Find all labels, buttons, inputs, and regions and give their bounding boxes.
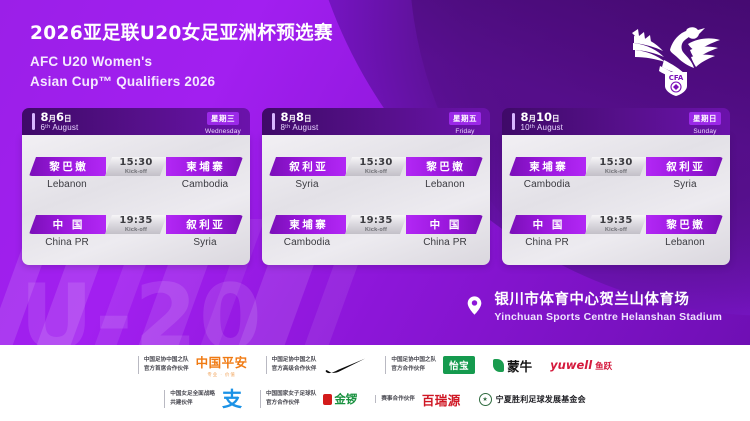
kickoff-label: Kick-off <box>605 227 627 233</box>
sponsor-row-secondary: 中国女足全面战略 共建伙伴 支 中国国家女子足球队 官方合作伙伴 金锣 <box>0 381 750 417</box>
home-team-cn: 叙利亚 <box>287 159 329 174</box>
page-title-cn: 2026亚足联U20女足亚洲杯预选赛 <box>30 22 333 45</box>
fixture-row[interactable]: 柬埔寨 19:35 Kick-off 中 国 Cambodia China PR <box>269 215 483 253</box>
kickoff-label: Kick-off <box>605 169 627 175</box>
ping-an-logo-sub: 专业 · 价值 <box>207 372 235 378</box>
sponsor-item[interactable]: 中国女足全面战略 共建伙伴 支 <box>155 389 251 409</box>
kickoff-time: 15:30 <box>119 158 152 168</box>
date-accent-bar <box>512 113 515 130</box>
sponsor-item[interactable]: 蒙牛 <box>484 355 541 375</box>
sponsor-caption: 赛事合作伙伴 <box>375 395 415 404</box>
card-date-header: 8月10日 10ᵗʰ August 星期日 Sunday <box>502 108 730 135</box>
date-group: 8月6日 6ᵗʰ August <box>32 111 78 133</box>
card-date-header: 8月6日 6ᵗʰ August 星期三 Wednesday <box>22 108 250 135</box>
away-team-cn: 叙利亚 <box>184 217 226 232</box>
sponsor-item[interactable]: 中国国家女子足球队 官方合作伙伴 金锣 <box>251 389 366 409</box>
home-team-cn: 柬埔寨 <box>527 159 569 174</box>
page-title-en-line2: Asian Cup™ Qualifiers 2026 <box>30 72 333 92</box>
weekday-group: 星期日 Sunday <box>689 108 721 135</box>
away-team-pill: 柬埔寨 <box>166 157 243 176</box>
sponsor-item[interactable]: 赛事合作伙伴 百瑞源 <box>366 389 469 409</box>
kickoff-chip: 19:35 Kick-off <box>585 215 647 234</box>
yuwell-logo-sub: 鱼跃 <box>595 360 612 372</box>
fixture-card[interactable]: 8月8日 8ᵗʰ August 星期五 Friday 叙利亚 <box>262 108 490 265</box>
date-label-en: 6ᵗʰ August <box>41 124 79 133</box>
venue-name-en: Yinchuan Sports Centre Helanshan Stadium <box>494 311 722 323</box>
fund-seal-icon: ★ <box>479 393 492 406</box>
date-accent-bar <box>32 113 35 130</box>
sponsor-caption-line1: 中国足协中国之队 <box>391 356 436 365</box>
away-team-en: Syria <box>647 179 723 190</box>
date-label-cn: 8月8日 <box>281 111 319 123</box>
fixture-row[interactable]: 叙利亚 15:30 Kick-off 黎巴嫩 Syria Lebanon <box>269 157 483 195</box>
kickoff-label: Kick-off <box>125 227 147 233</box>
alipay-logo: 支 <box>222 389 242 409</box>
nike-swoosh-logo <box>323 355 367 375</box>
sponsor-caption-line1: 中国国家女子足球队 <box>266 390 316 399</box>
home-team-en: Cambodia <box>509 179 585 190</box>
fixture-row[interactable]: 中 国 19:35 Kick-off 黎巴嫩 China PR Lebanon <box>509 215 723 253</box>
away-team-cn: 中 国 <box>427 217 462 232</box>
home-team-pill: 黎巴嫩 <box>29 157 106 176</box>
kickoff-label: Kick-off <box>365 169 387 175</box>
alipay-logo-text: 支 <box>222 389 242 409</box>
home-team-en: China PR <box>29 237 105 248</box>
weekday-badge-cn: 星期五 <box>449 112 481 125</box>
sponsor-caption: 中国足协中国之队 官方合作伙伴 <box>385 356 436 373</box>
kickoff-label: Kick-off <box>125 169 147 175</box>
cfa-shield-icon: CFA <box>665 72 687 96</box>
away-team-cn: 柬埔寨 <box>184 159 226 174</box>
ningxia-fund-logo-text: 宁夏胜利足球发展基金会 <box>496 394 586 405</box>
sponsor-item[interactable]: 中国足协中国之队 官方首席合作伙伴 中国平安 专业 · 价值 <box>129 355 257 375</box>
card-fixtures-body: 叙利亚 15:30 Kick-off 黎巴嫩 Syria Lebanon <box>262 135 490 265</box>
away-team-pill: 叙利亚 <box>166 215 243 234</box>
sponsor-footer: 中国足协中国之队 官方首席合作伙伴 中国平安 专业 · 价值 中国足协中国之队 … <box>0 345 750 421</box>
jinluo-logo: 金锣 <box>323 389 357 409</box>
ping-an-logo-text: 中国平安 <box>196 352 248 371</box>
weekday-label-en: Sunday <box>689 128 721 135</box>
date-group: 8月8日 8ᵗʰ August <box>272 111 318 133</box>
home-team-pill: 柬埔寨 <box>509 157 586 176</box>
fixture-card[interactable]: 8月10日 10ᵗʰ August 星期日 Sunday 柬埔寨 <box>502 108 730 265</box>
u20-watermark: U-20 <box>20 273 264 345</box>
bairuiyuan-logo-text: 百瑞源 <box>422 390 461 409</box>
away-team-pill: 黎巴嫩 <box>406 157 483 176</box>
away-team-en: China PR <box>407 237 483 248</box>
date-label-en: 10ᵗʰ August <box>521 124 564 133</box>
sponsor-caption-line2: 官方合作伙伴 <box>391 365 436 374</box>
fixtures-card-list: 8月6日 6ᵗʰ August 星期三 Wednesday 黎巴嫩 <box>22 108 730 265</box>
home-team-pill: 中 国 <box>509 215 586 234</box>
weekday-label-en: Friday <box>449 128 481 135</box>
away-team-en: Syria <box>167 237 243 248</box>
page-title-en: AFC U20 Women's Asian Cup™ Qualifiers 20… <box>30 52 333 91</box>
sponsor-caption-line1: 中国足协中国之队 <box>144 356 189 365</box>
cfa-eagle-crest-icon: CFA <box>630 16 722 96</box>
away-team-en: Lebanon <box>647 237 723 248</box>
fixture-row[interactable]: 黎巴嫩 15:30 Kick-off 柬埔寨 Lebanon Cambodia <box>29 157 243 195</box>
weekday-group: 星期三 Wednesday <box>205 108 241 135</box>
svg-text:CFA: CFA <box>669 74 684 82</box>
yibao-logo: 怡宝 <box>443 355 475 375</box>
kickoff-chip: 19:35 Kick-off <box>345 215 407 234</box>
yuwell-logo: yuwell 鱼跃 <box>550 355 612 375</box>
venue-block: 银川市体育中心贺兰山体育场 Yinchuan Sports Centre Hel… <box>464 288 722 323</box>
mengniu-logo-text: 蒙牛 <box>507 356 532 375</box>
date-label-en: 8ᵗʰ August <box>281 124 319 133</box>
jinluo-logo-text: 金锣 <box>334 391 357 407</box>
sponsor-item[interactable]: 中国足协中国之队 官方合作伙伴 怡宝 <box>376 355 484 375</box>
sponsor-item[interactable]: yuwell 鱼跃 <box>541 355 621 375</box>
date-label-cn: 8月10日 <box>521 111 564 123</box>
away-team-pill: 叙利亚 <box>646 157 723 176</box>
sponsor-item[interactable]: 中国足协中国之队 官方高级合作伙伴 <box>257 355 377 375</box>
poster-root: U-20 2026亚足联U20女足亚洲杯预选赛 AFC U20 Women's … <box>0 0 750 421</box>
weekday-label-en: Wednesday <box>205 128 241 135</box>
kickoff-chip: 15:30 Kick-off <box>345 157 407 176</box>
fixture-row[interactable]: 柬埔寨 15:30 Kick-off 叙利亚 Cambodia Syria <box>509 157 723 195</box>
fixture-row[interactable]: 中 国 19:35 Kick-off 叙利亚 China PR Syria <box>29 215 243 253</box>
sponsor-item[interactable]: ★ 宁夏胜利足球发展基金会 <box>470 389 595 409</box>
kickoff-time: 15:30 <box>359 158 392 168</box>
fixture-card[interactable]: 8月6日 6ᵗʰ August 星期三 Wednesday 黎巴嫩 <box>22 108 250 265</box>
kickoff-chip: 15:30 Kick-off <box>105 157 167 176</box>
mengniu-logo: 蒙牛 <box>493 355 532 375</box>
sponsor-caption-line1: 赛事合作伙伴 <box>381 395 415 404</box>
sponsor-caption-line2: 共建伙伴 <box>170 399 215 408</box>
away-team-pill: 黎巴嫩 <box>646 215 723 234</box>
yibao-logo-text: 怡宝 <box>443 356 475 374</box>
sponsor-caption-line2: 官方高级合作伙伴 <box>272 365 317 374</box>
away-team-cn: 叙利亚 <box>664 159 706 174</box>
sponsor-caption-line2: 官方首席合作伙伴 <box>144 365 189 374</box>
kickoff-time: 19:35 <box>119 216 152 226</box>
card-fixtures-body: 柬埔寨 15:30 Kick-off 叙利亚 Cambodia Syria <box>502 135 730 265</box>
sponsor-caption-line1: 中国足协中国之队 <box>272 356 317 365</box>
home-team-en: China PR <box>509 237 585 248</box>
away-team-cn: 黎巴嫩 <box>664 217 706 232</box>
ping-an-logo: 中国平安 专业 · 价值 <box>196 355 248 375</box>
kickoff-time: 19:35 <box>599 216 632 226</box>
weekday-badge-cn: 星期日 <box>689 112 721 125</box>
date-group: 8月10日 10ᵗʰ August <box>512 111 563 133</box>
home-team-en: Lebanon <box>29 179 105 190</box>
home-team-cn: 柬埔寨 <box>287 217 329 232</box>
kickoff-chip: 19:35 Kick-off <box>105 215 167 234</box>
sponsor-caption-line1: 中国女足全面战略 <box>170 390 215 399</box>
weekday-badge-cn: 星期三 <box>207 112 239 125</box>
away-team-en: Lebanon <box>407 179 483 190</box>
kickoff-label: Kick-off <box>365 227 387 233</box>
home-team-cn: 中 国 <box>530 217 565 232</box>
kickoff-chip: 15:30 Kick-off <box>585 157 647 176</box>
card-fixtures-body: 黎巴嫩 15:30 Kick-off 柬埔寨 Lebanon Cambodia <box>22 135 250 265</box>
jinluo-mark-icon <box>323 394 332 405</box>
hero-stage: U-20 2026亚足联U20女足亚洲杯预选赛 AFC U20 Women's … <box>0 0 750 345</box>
page-title-en-line1: AFC U20 Women's <box>30 52 333 72</box>
away-team-cn: 黎巴嫩 <box>424 159 466 174</box>
date-label-cn: 8月6日 <box>41 111 79 123</box>
kickoff-time: 15:30 <box>599 158 632 168</box>
yuwell-logo-text: yuwell <box>550 358 592 372</box>
sponsor-caption: 中国足协中国之队 官方首席合作伙伴 <box>138 356 189 373</box>
weekday-group: 星期五 Friday <box>449 108 481 135</box>
date-accent-bar <box>272 113 275 130</box>
venue-name-cn: 银川市体育中心贺兰山体育场 <box>494 288 722 309</box>
sponsor-caption-line2: 官方合作伙伴 <box>266 399 316 408</box>
home-team-pill: 叙利亚 <box>269 157 346 176</box>
mengniu-mark-icon <box>493 359 504 372</box>
card-date-header: 8月8日 8ᵗʰ August 星期五 Friday <box>262 108 490 135</box>
home-team-cn: 中 国 <box>50 217 85 232</box>
home-team-pill: 柬埔寨 <box>269 215 346 234</box>
ningxia-football-fund-logo: ★ 宁夏胜利足球发展基金会 <box>479 389 586 409</box>
home-team-en: Cambodia <box>269 237 345 248</box>
sponsor-row-primary: 中国足协中国之队 官方首席合作伙伴 中国平安 专业 · 价值 中国足协中国之队 … <box>0 345 750 381</box>
away-team-pill: 中 国 <box>406 215 483 234</box>
home-team-cn: 黎巴嫩 <box>47 159 89 174</box>
title-block: 2026亚足联U20女足亚洲杯预选赛 AFC U20 Women's Asian… <box>30 22 333 91</box>
bairuiyuan-logo: 百瑞源 <box>422 389 461 409</box>
home-team-pill: 中 国 <box>29 215 106 234</box>
sponsor-caption: 中国国家女子足球队 官方合作伙伴 <box>260 390 316 407</box>
sponsor-caption: 中国女足全面战略 共建伙伴 <box>164 390 215 407</box>
kickoff-time: 19:35 <box>359 216 392 226</box>
home-team-en: Syria <box>269 179 345 190</box>
sponsor-caption: 中国足协中国之队 官方高级合作伙伴 <box>266 356 317 373</box>
away-team-en: Cambodia <box>167 179 243 190</box>
location-pin-icon <box>464 295 485 316</box>
